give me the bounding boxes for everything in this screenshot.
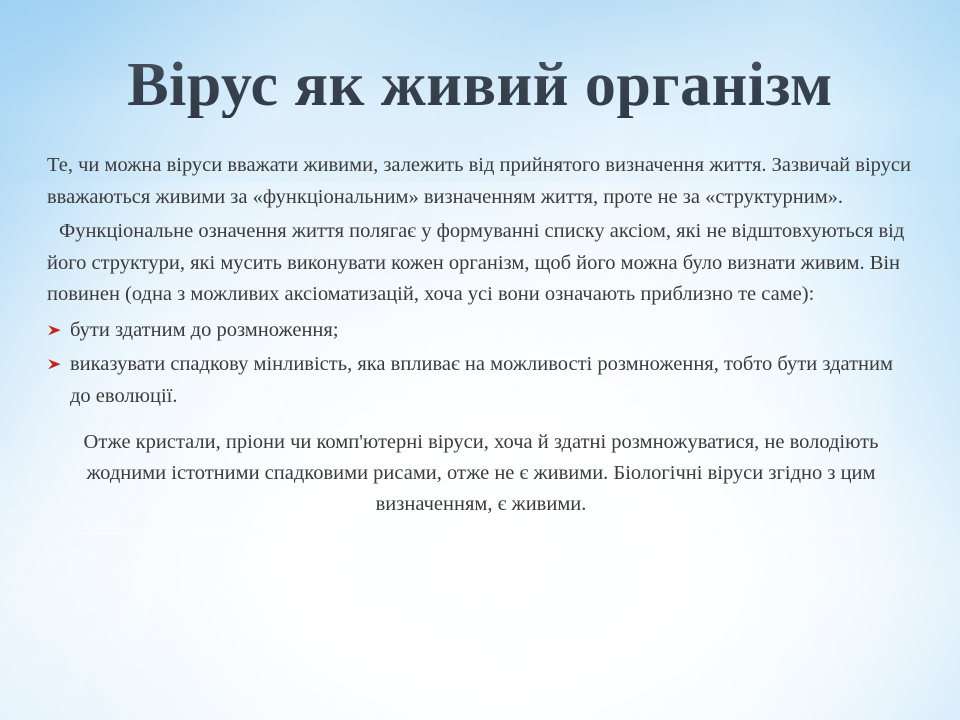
list-item-label: бути здатним до розмноження;	[70, 319, 339, 341]
slide-title: Вірус як живий організм	[0, 52, 960, 157]
paragraph-1: Те, чи можна віруси вважати живими, зале…	[47, 150, 915, 213]
list-item: виказувати спадкову мінливість, яка впли…	[47, 349, 915, 412]
slide-background-hairline	[0, 533, 960, 534]
arrow-bullet-icon	[47, 349, 70, 381]
list-item-label: виказувати спадкову мінливість, яка впли…	[70, 353, 893, 407]
arrow-bullet-icon	[47, 315, 70, 347]
list-item: бути здатним до розмноження;	[47, 315, 915, 347]
axiom-bullet-list: бути здатним до розмноження; виказувати …	[47, 315, 915, 413]
paragraph-conclusion: Отже кристали, пріони чи комп'ютерні вір…	[47, 427, 915, 520]
slide-body: Те, чи можна віруси вважати живими, зале…	[47, 150, 915, 520]
presentation-slide: Вірус як живий організм Вірус як живий о…	[0, 0, 960, 720]
paragraph-2: Функціональне означення життя полягає у …	[47, 216, 915, 311]
slide-title-text: Вірус як живий організм	[127, 52, 833, 118]
